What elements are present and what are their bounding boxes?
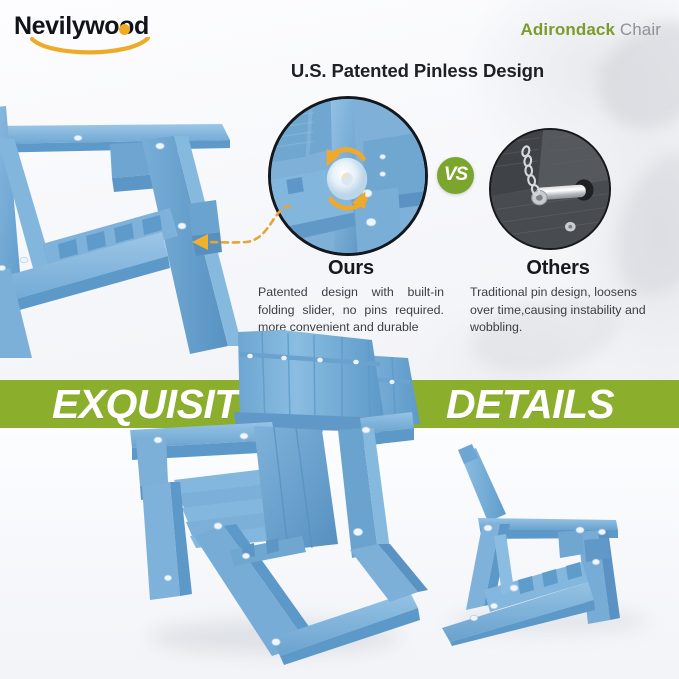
- vs-badge: VS: [437, 157, 474, 194]
- product-title-brandword: Adirondack: [521, 20, 616, 39]
- caption-others: Others Traditional pin design, loosens o…: [470, 257, 646, 337]
- caption-ours-title: Ours: [258, 257, 444, 280]
- page-headline: U.S. Patented Pinless Design: [0, 60, 679, 82]
- comparison-others-photo: [489, 128, 611, 250]
- header: Nevilywood Adirondack Chair: [0, 0, 679, 56]
- main-chair-image: [122, 330, 432, 665]
- vs-badge-label: VS: [444, 164, 467, 186]
- caption-ours-body: Patented design with built-in folding sl…: [258, 284, 444, 337]
- page-headline-text: U.S. Patented Pinless Design: [291, 60, 544, 81]
- product-title-plainword: Chair: [615, 20, 661, 39]
- banner-word-right: DETAILS: [446, 381, 614, 427]
- caption-others-body: Traditional pin design, loosens over tim…: [470, 284, 646, 337]
- brand-logo[interactable]: Nevilywood: [14, 12, 174, 52]
- side-chair-image: [432, 440, 664, 646]
- product-title: Adirondack Chair: [521, 20, 661, 40]
- caption-ours: Ours Patented design with built-in foldi…: [258, 257, 444, 337]
- others-pin-illustration: [491, 130, 609, 248]
- caption-others-title: Others: [470, 257, 646, 280]
- product-marketing-image: Nevilywood Adirondack Chair U.S. Patente…: [0, 0, 679, 679]
- logo-accent-dot-icon: [119, 24, 130, 35]
- logo-smile-curve-icon: [30, 37, 150, 57]
